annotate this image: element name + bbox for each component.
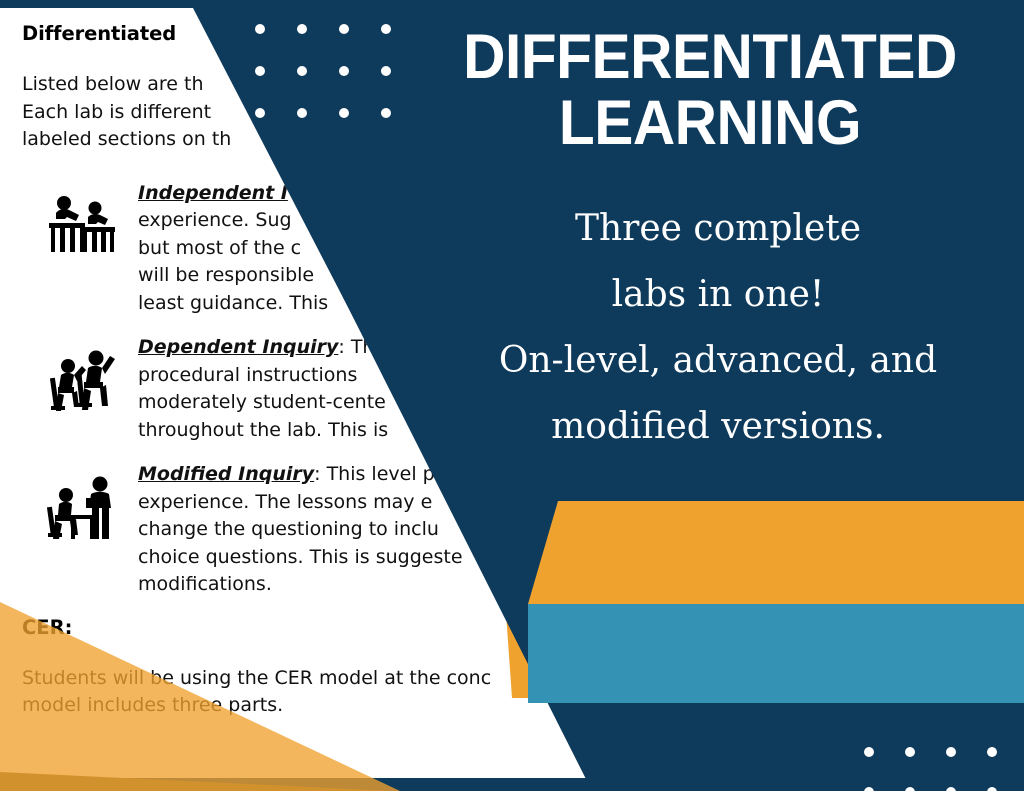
dot	[339, 108, 349, 118]
headline-line-1: DIFFERENTIATED	[431, 24, 989, 90]
dot	[946, 787, 956, 791]
teal-band	[528, 604, 1024, 703]
headline-line-2: LEARNING	[431, 90, 989, 156]
inquiry-term: Modified Inquiry	[138, 463, 314, 485]
subtitle-line: On-level, advanced, and	[412, 328, 1024, 394]
dot	[987, 747, 997, 757]
dot	[255, 24, 265, 34]
dot	[987, 787, 997, 791]
subtitle-line: labs in one!	[412, 262, 1024, 328]
dot	[297, 108, 307, 118]
inquiry-term-suffix: : This level p	[314, 463, 435, 485]
dot	[381, 24, 391, 34]
dot	[946, 747, 956, 757]
subtitle-line: Three complete	[412, 196, 1024, 262]
students-at-desks-icon	[28, 180, 138, 256]
dot	[255, 108, 265, 118]
dot	[905, 787, 915, 791]
dot	[297, 24, 307, 34]
slide-canvas: Differentiated Listed below are th Each …	[0, 0, 1024, 791]
students-raising-hands-icon	[28, 334, 138, 414]
dot	[339, 24, 349, 34]
orange-band	[528, 501, 1024, 604]
dot	[864, 787, 874, 791]
dot	[381, 66, 391, 76]
page-subtitle: Three complete labs in one! On-level, ad…	[412, 196, 1024, 460]
dot	[381, 108, 391, 118]
dot-grid-top	[239, 8, 407, 134]
dot-grid-bottom	[848, 732, 1012, 791]
subtitle-line: modified versions.	[412, 394, 1024, 460]
inquiry-term: Dependent Inquiry	[138, 336, 338, 358]
inquiry-term: Independent I	[138, 182, 288, 204]
dot	[864, 747, 874, 757]
dot	[297, 66, 307, 76]
teacher-helping-student-icon	[28, 461, 138, 543]
dot	[339, 66, 349, 76]
dot	[255, 66, 265, 76]
page-title: DIFFERENTIATED LEARNING	[431, 24, 989, 156]
dot	[905, 747, 915, 757]
